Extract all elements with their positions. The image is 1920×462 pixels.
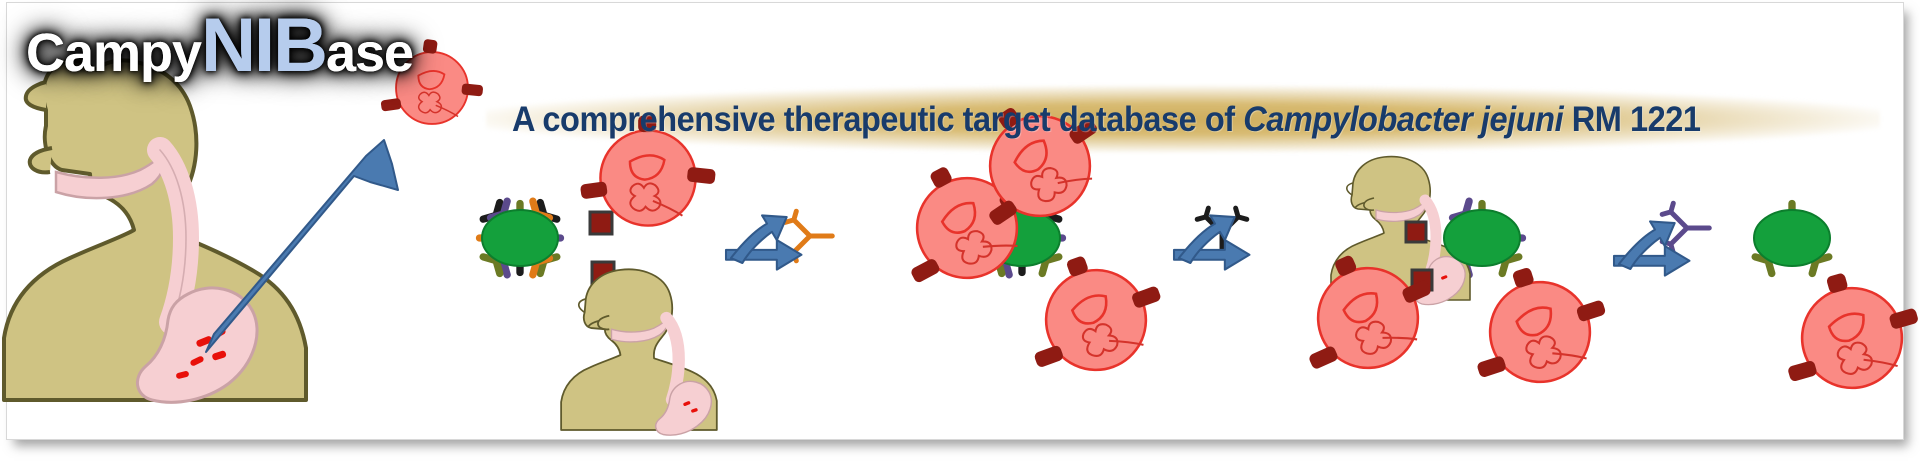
tagline-lead: A comprehensive therapeutic target datab… — [512, 100, 1243, 139]
stage-multi-target-hub — [480, 116, 717, 435]
binding-site-host-purple — [1406, 222, 1426, 242]
campynibase-banner: CampyNIBase CampyNIBase A comprehensive … — [0, 0, 1920, 462]
bacterium-d1 — [1766, 256, 1920, 405]
split-transition-arrow-1 — [726, 215, 801, 269]
logo-text-layer: CampyNIBase — [26, 58, 413, 75]
tagline-species: Campylobacter jejuni — [1243, 100, 1563, 139]
human-torso-silhouette — [4, 60, 306, 400]
target-hub-green — [482, 210, 558, 266]
transition-2 — [1174, 208, 1249, 269]
tagline-strain: RM 1221 — [1563, 100, 1700, 139]
target-hub-green-3 — [1444, 210, 1520, 266]
tagline: A comprehensive therapeutic target datab… — [512, 98, 1805, 142]
transition-1 — [726, 211, 832, 269]
bacterium-c2 — [1453, 249, 1621, 402]
human-lips — [30, 148, 52, 172]
host-small-orange — [561, 269, 717, 435]
logo-part-campy: Campy — [26, 23, 201, 83]
target-hub-green-4 — [1754, 210, 1830, 266]
stage-two-antibodies — [1277, 157, 1621, 402]
logo-part-nib: NIB — [201, 3, 326, 88]
site-logo[interactable]: CampyNIBase CampyNIBase — [26, 8, 413, 84]
split-transition-arrow-3 — [1614, 221, 1689, 275]
logo-part-ase: ase — [326, 23, 413, 83]
stage-host-infection — [4, 60, 398, 402]
transition-3 — [1614, 203, 1709, 275]
stage-single-target — [1754, 204, 1920, 406]
binding-site-bacterium — [590, 212, 612, 234]
human-chin — [26, 82, 46, 110]
